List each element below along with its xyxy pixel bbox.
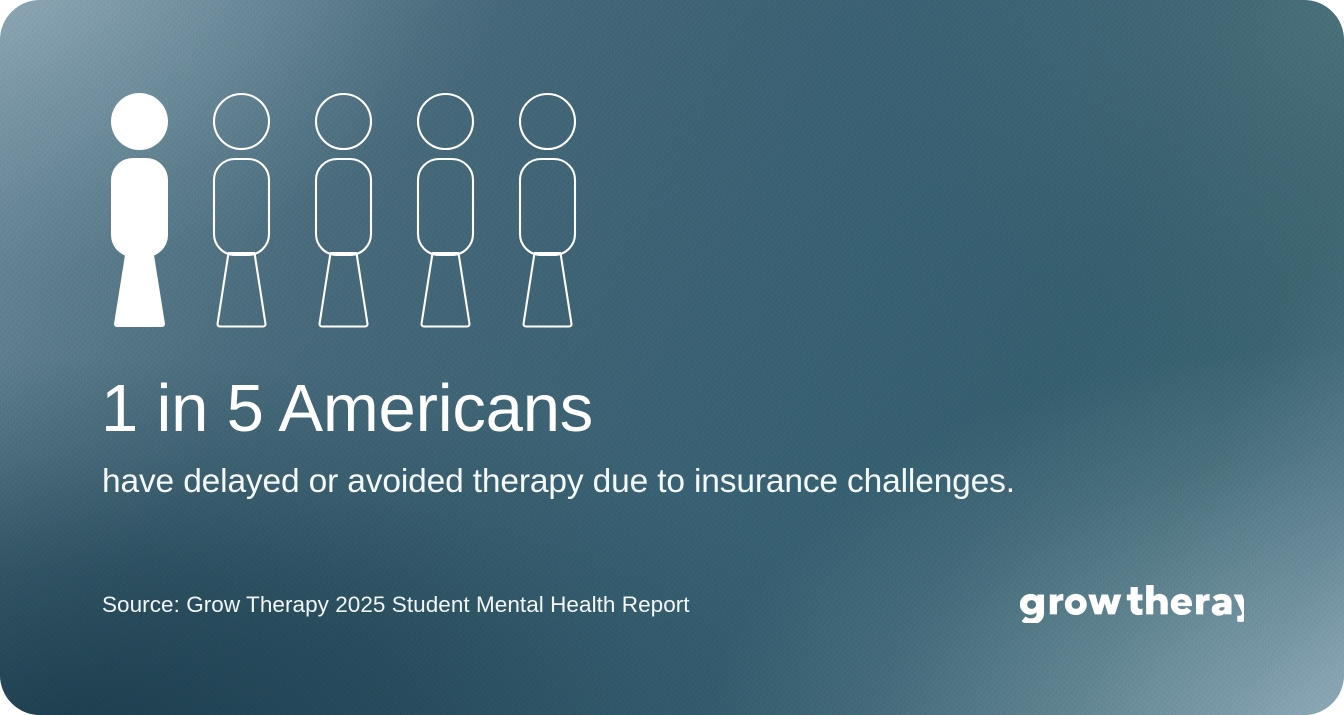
source-citation: Source: Grow Therapy 2025 Student Mental… [102,592,690,618]
growtherapy-wordmark-icon [1014,585,1244,623]
person-icon-outlined-5 [510,92,612,330]
growtherapy-logo [1014,585,1244,623]
person-icon-outlined-3 [306,92,408,330]
person-icon-filled-1 [102,92,204,330]
infographic-card: 1 in 5 Americans have delayed or avoided… [0,0,1344,715]
infographic-content: 1 in 5 Americans have delayed or avoided… [0,0,1344,715]
subheadline: have delayed or avoided therapy due to i… [102,462,1015,502]
headline: 1 in 5 Americans [101,374,593,444]
person-icon-outlined-4 [408,92,510,330]
person-icon-outlined-2 [204,92,306,330]
people-pictogram [102,92,612,330]
